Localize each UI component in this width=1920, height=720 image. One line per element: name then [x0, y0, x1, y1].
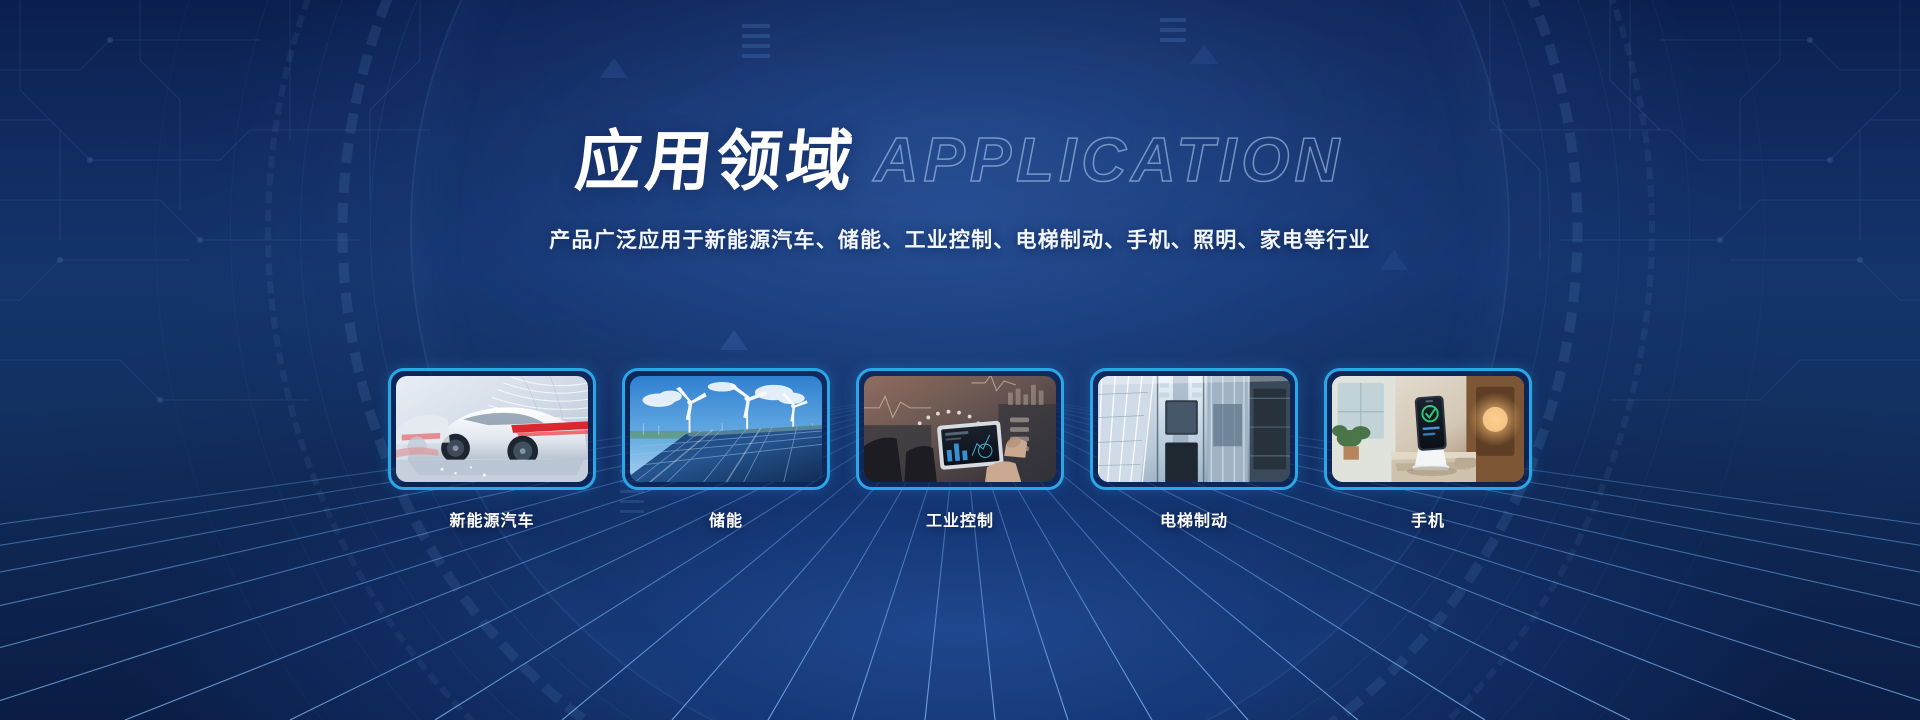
solar-panels-wind-turbines-photo [630, 376, 822, 482]
application-card[interactable]: 工业控制 [856, 368, 1064, 531]
application-card[interactable]: 电梯制动 [1090, 368, 1298, 531]
arc-ring-3-icon [230, 0, 1690, 720]
application-card[interactable]: 新能源汽车 [388, 368, 596, 531]
triangle-accent-icon [1190, 44, 1218, 64]
arc-ring-4-icon [155, 0, 1765, 720]
triangle-accent-icon [720, 330, 748, 350]
application-card[interactable]: 手机 [1324, 368, 1532, 531]
background-decoration [0, 0, 1920, 720]
card-label: 储能 [622, 507, 830, 531]
card-label: 工业控制 [856, 507, 1064, 531]
arc-glow-icon [410, 0, 1510, 720]
smartphone-wireless-charger-photo [1332, 376, 1524, 482]
arc-dashed-ring-icon [338, 0, 1583, 720]
page-title-english: APPLICATION [870, 130, 1345, 192]
page-title: 应用领域 [572, 128, 859, 194]
banner-heading: 应用领域 APPLICATION 产品广泛应用于新能源汽车、储能、工业控制、电梯… [0, 118, 1920, 254]
banner-subtitle: 产品广泛应用于新能源汽车、储能、工业控制、电梯制动、手机、照明、家电等行业 [0, 224, 1920, 254]
card-frame[interactable] [622, 368, 830, 490]
title-row: 应用领域 APPLICATION [0, 118, 1920, 204]
application-card[interactable]: 储能 [622, 368, 830, 531]
dotted-bars-icon [0, 0, 1920, 720]
card-frame[interactable] [1324, 368, 1532, 490]
card-frame[interactable] [1090, 368, 1298, 490]
application-card-list: 新能源汽车 [0, 368, 1920, 531]
arc-dashed-ring-2-icon [265, 0, 1655, 720]
elevator-shaft-photo [1098, 376, 1290, 482]
card-frame[interactable] [388, 368, 596, 490]
card-label: 新能源汽车 [388, 507, 596, 531]
card-label: 手机 [1324, 507, 1532, 531]
card-frame[interactable] [856, 368, 1064, 490]
arc-ring-2-icon [300, 0, 1620, 720]
arc-ring-1-icon [370, 0, 1550, 720]
triangle-accent-icon [600, 58, 628, 78]
concentric-arcs [110, 0, 1810, 720]
industrial-control-tablet-photo [864, 376, 1056, 482]
application-banner: 应用领域 APPLICATION 产品广泛应用于新能源汽车、储能、工业控制、电梯… [0, 0, 1920, 720]
electric-sports-car-photo [396, 376, 588, 482]
card-label: 电梯制动 [1090, 507, 1298, 531]
